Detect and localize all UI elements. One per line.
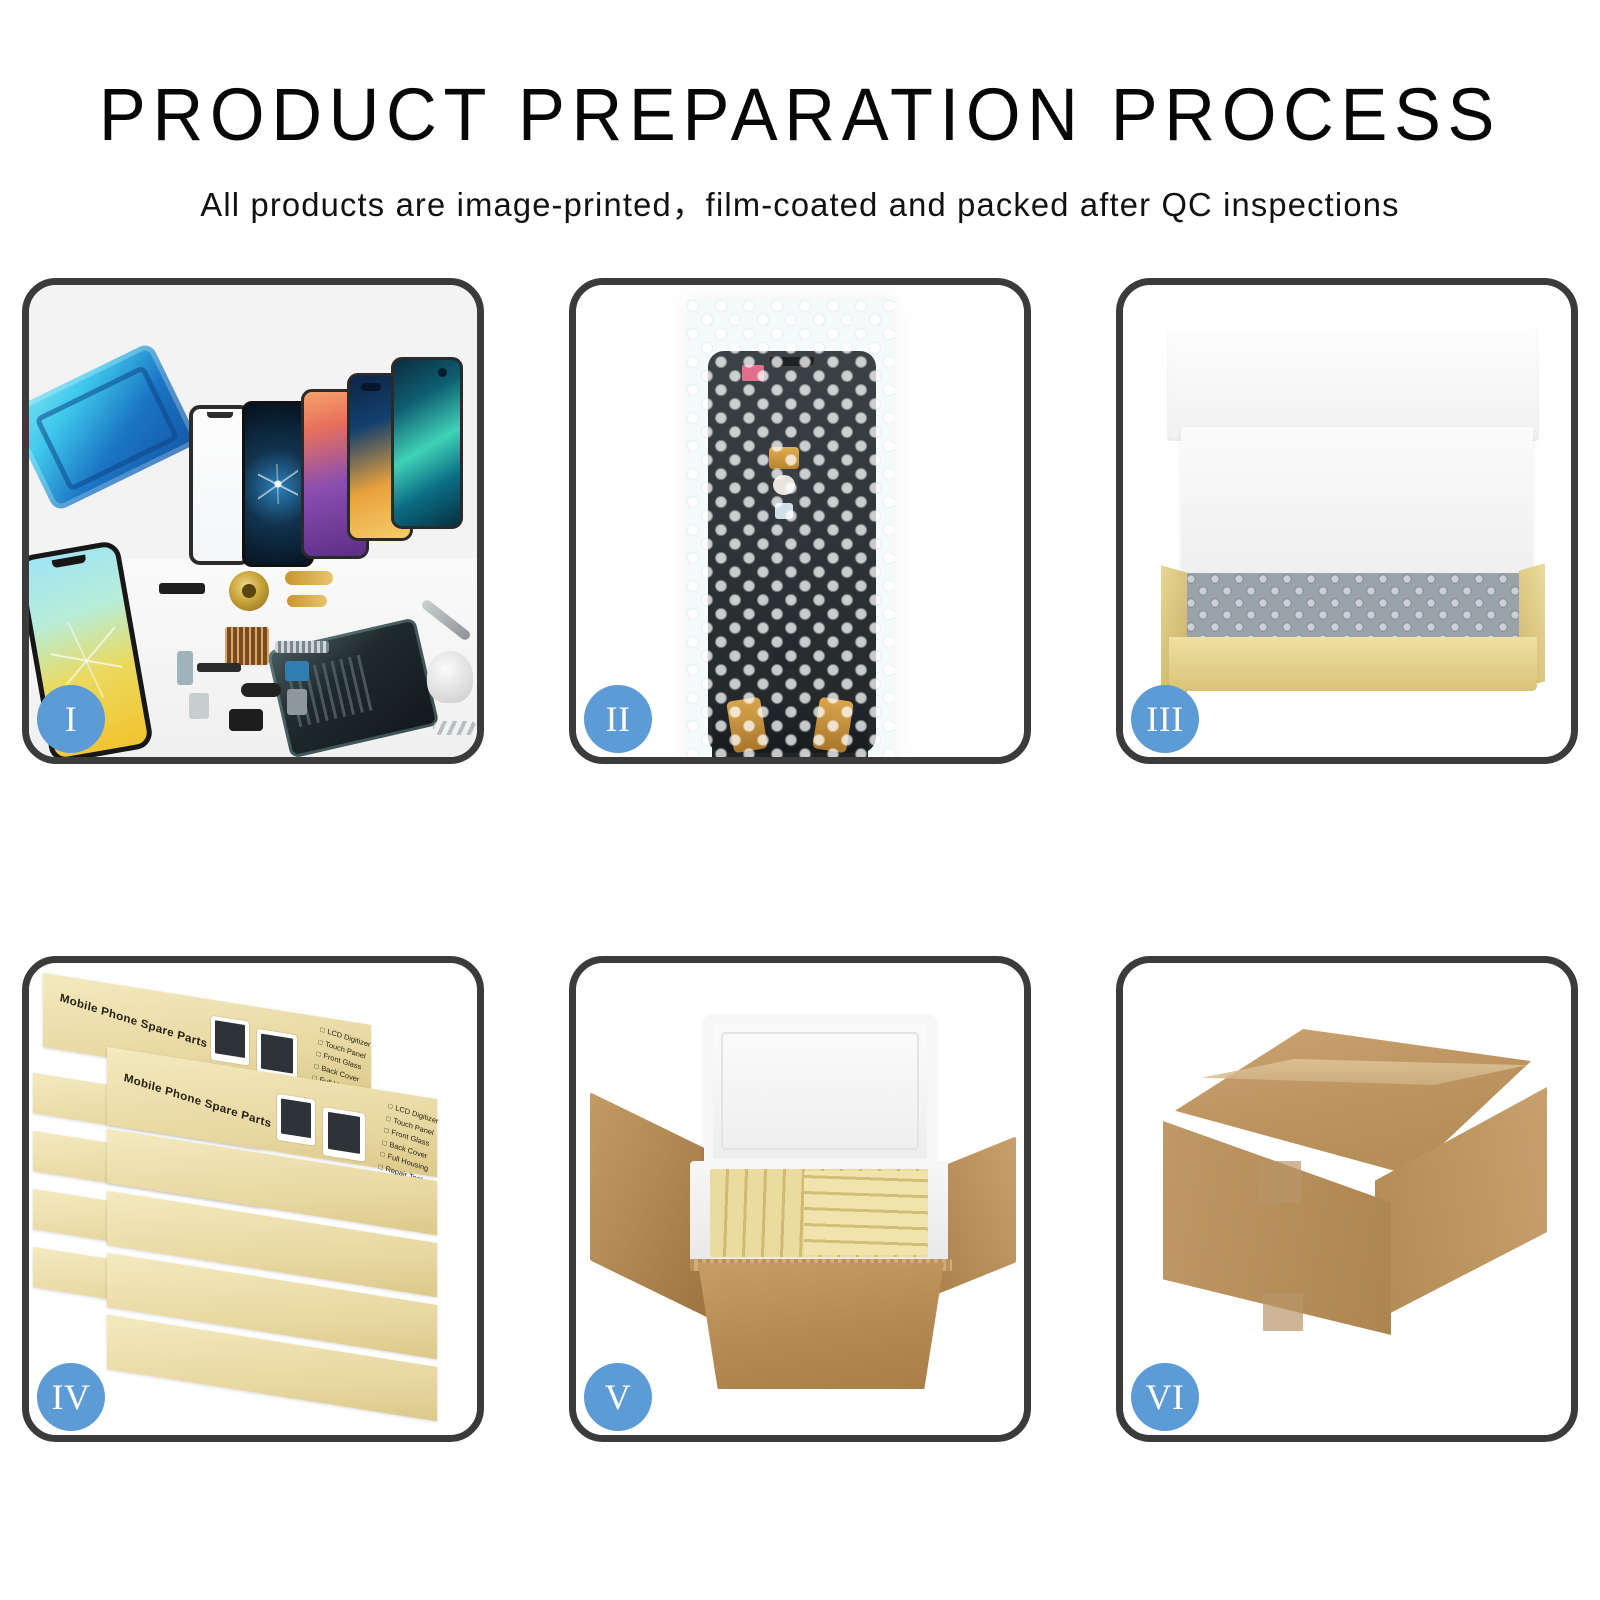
step-image-stacked-retail-boxes: Mobile Phone Spare Parts LCD Digitizer T… [29,963,477,1435]
carton-tape-tab-lower [1263,1293,1303,1331]
step-panel-6[interactable]: VI [1116,956,1578,1442]
eps-foam-lid [704,1015,936,1167]
process-step-grid: I II [0,278,1600,1458]
carton-tape-tab-upper [1259,1161,1301,1203]
retail-box-product-photo-c [277,1094,315,1146]
chip-grid-icon [225,627,269,665]
step-image-carton-with-inner-boxes [576,963,1024,1435]
step-image-sealed-shipping-carton [1123,963,1571,1435]
retail-box-product-photo-d [323,1107,365,1162]
step-image-phone-parts-assortment [29,285,477,757]
speaker-module [241,683,281,697]
step-cell-3: III [1116,278,1578,764]
page-title: PRODUCT PREPARATION PROCESS [40,78,1560,152]
small-part-1 [177,651,193,685]
step-badge-3: III [1131,685,1199,753]
step-panel-3[interactable]: III [1116,278,1578,764]
step-image-bubble-wrapped-screen [576,285,1024,757]
packed-gold-boxes-row-b [804,1171,928,1255]
step-badge-5: V [584,1363,652,1431]
step-badge-1: I [37,685,105,753]
connector-blue [775,503,793,519]
cleaning-brush-icon [427,651,473,703]
step-badge-2: II [584,685,652,753]
small-part-3 [229,709,263,731]
bubble-wrap-sleeve [686,299,894,757]
step-panel-2[interactable]: II [569,278,1031,764]
screws-icon [433,721,477,735]
ribbon-connector [275,641,329,653]
step-panel-1[interactable]: I [22,278,484,764]
retail-box-product-photo-a [211,1016,249,1066]
carton-front-panel [698,1263,944,1389]
step-cell-6: VI [1116,956,1578,1442]
step-image-gold-mailer-box-open [1123,285,1571,757]
step-badge-6: VI [1131,1363,1199,1431]
small-part-2 [197,663,241,672]
step-panel-4[interactable]: Mobile Phone Spare Parts LCD Digitizer T… [22,956,484,1442]
step-cell-4: Mobile Phone Spare Parts LCD Digitizer T… [22,956,484,1442]
qc-sticker [742,365,764,381]
small-part-4 [287,689,307,715]
step-cell-2: II [569,278,1031,764]
connector-gold [769,447,799,469]
flex-cable-gold-1 [285,571,333,585]
step-cell-1: I [22,278,484,764]
sim-tray-icon [189,693,209,719]
step-cell-5: V [569,956,1031,1442]
connector-strip [159,583,205,594]
grey-bubble-wrap-layer [1185,573,1523,643]
connector-white [773,475,795,495]
box-front-panel [1169,637,1537,691]
step-panel-5[interactable]: V [569,956,1031,1442]
page-subtitle: All products are image-printed，film-coat… [8,178,1592,226]
foam-pad [1181,427,1533,575]
step-badge-4: IV [37,1363,105,1431]
screen-flex-cable [774,469,798,669]
camera-module [285,661,309,681]
flex-cable-gold-2 [287,595,327,607]
wireless-charge-coil-icon [229,571,269,611]
page-header: PRODUCT PREPARATION PROCESS All products… [0,0,1600,226]
box-lid-open [1167,329,1539,441]
phone-teal [391,357,463,529]
adhesive-frame-icon [29,342,199,513]
